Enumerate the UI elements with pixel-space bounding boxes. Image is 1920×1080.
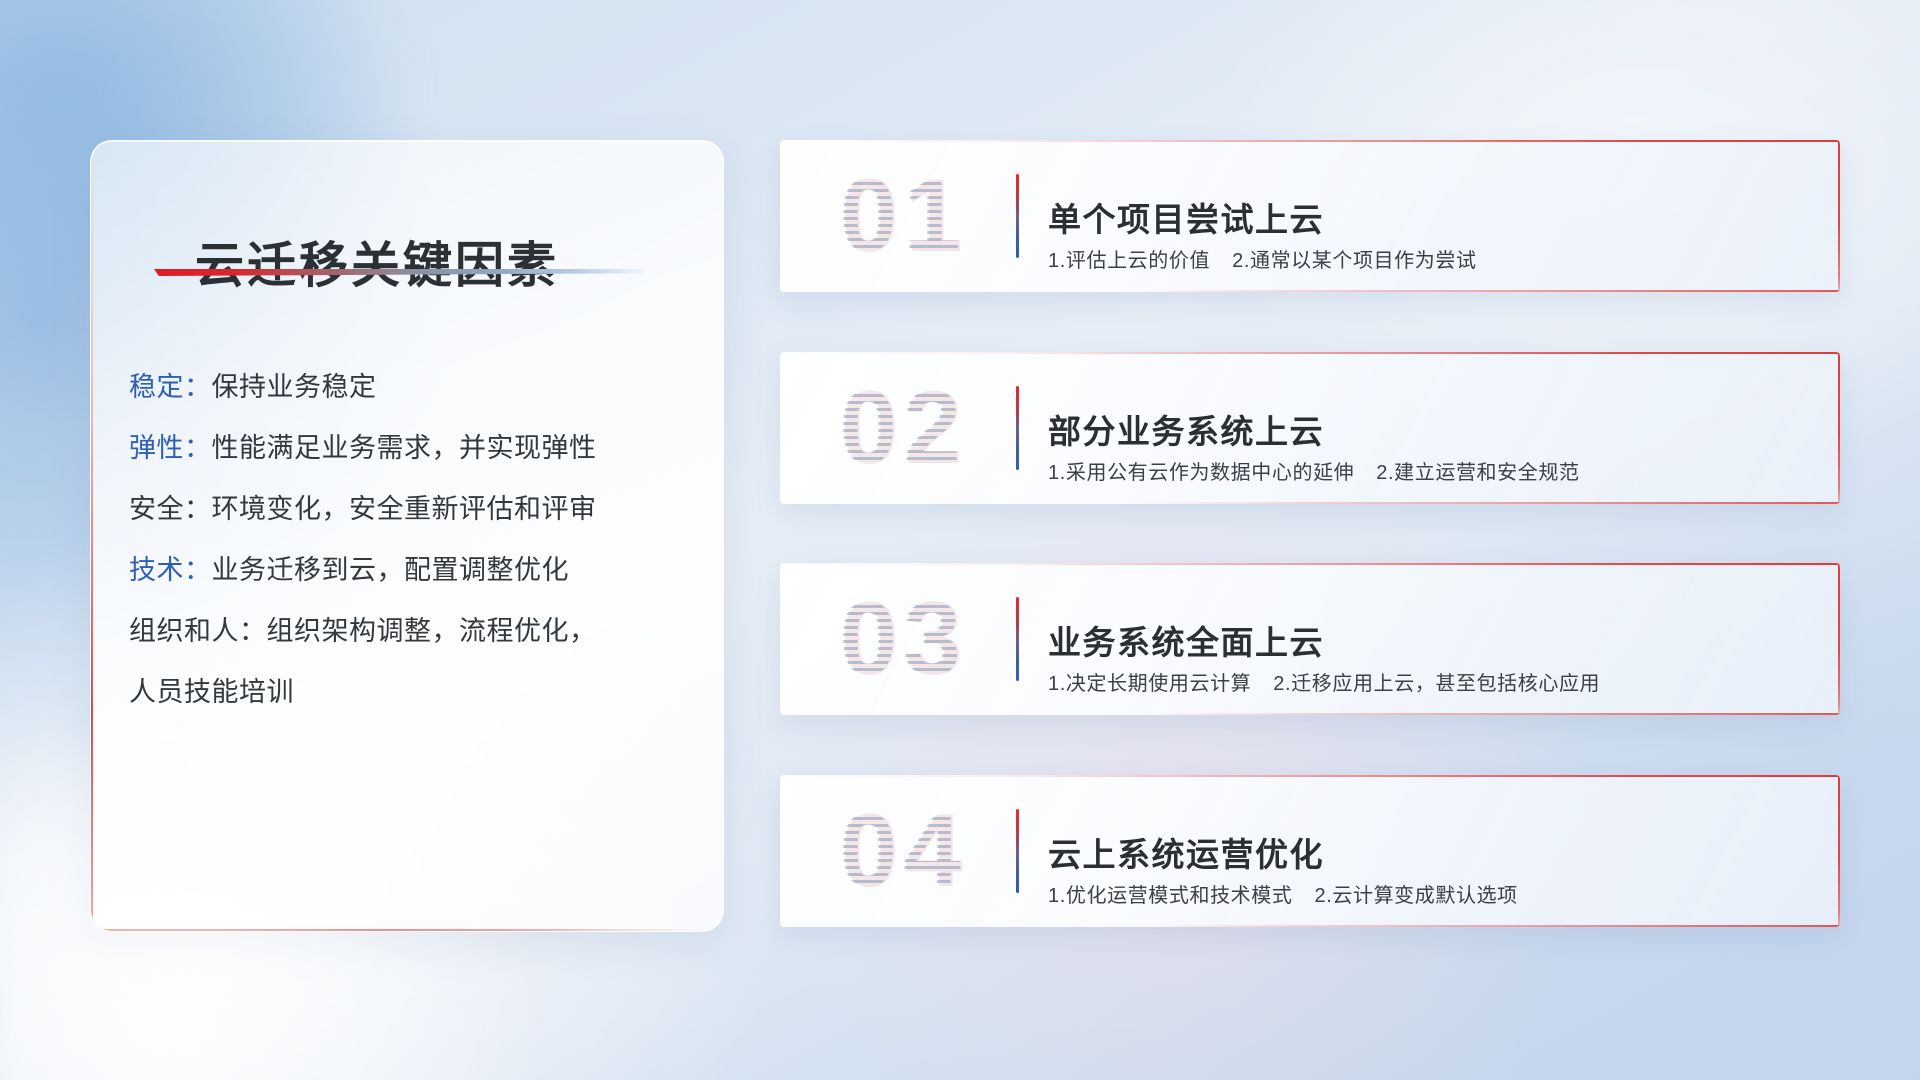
- list-item-key: 稳定：: [129, 372, 212, 402]
- stage-divider-bar: [1016, 386, 1019, 470]
- card-accent-edge-top: [780, 352, 1840, 354]
- stage-card-02[interactable]: 02 02 部分业务系统上云 1.采用公有云作为数据中心的延伸2.建立运营和安全…: [780, 352, 1840, 504]
- panel-accent-edge-bottom: [92, 929, 707, 931]
- stage-number: 04: [808, 789, 998, 913]
- list-item-key: 弹性：: [129, 433, 212, 463]
- stage-card-01[interactable]: 01 01 单个项目尝试上云 1.评估上云的价值2.通常以某个项目作为尝试: [780, 140, 1840, 292]
- stage-number: 02: [808, 366, 998, 490]
- stage-desc-part-2: 2.迁移应用上云，甚至包括核心应用: [1273, 673, 1600, 695]
- stage-title: 业务系统全面上云: [1048, 616, 1324, 664]
- stage-number: 03: [808, 577, 998, 701]
- page-title: 云迁移关键因素: [195, 226, 559, 297]
- stage-desc-part-2: 2.建立运营和安全规范: [1376, 462, 1579, 484]
- card-accent-edge-right: [1838, 352, 1840, 504]
- stage-description: 1.决定长期使用云计算2.迁移应用上云，甚至包括核心应用: [1048, 667, 1600, 696]
- stage-desc-part-1: 1.采用公有云作为数据中心的延伸: [1048, 462, 1354, 484]
- list-item-value: 组织架构调整，流程优化，: [267, 616, 597, 646]
- stage-description: 1.优化运营模式和技术模式2.云计算变成默认选项: [1048, 879, 1518, 908]
- stage-desc-part-2: 2.通常以某个项目作为尝试: [1232, 250, 1476, 272]
- card-accent-edge-top: [780, 775, 1840, 777]
- card-accent-edge-top: [780, 563, 1840, 565]
- stage-description: 1.采用公有云作为数据中心的延伸2.建立运营和安全规范: [1048, 456, 1580, 485]
- list-item: 安全：环境变化，安全重新评估和评审: [129, 479, 695, 540]
- list-item: 人员技能培训: [129, 662, 695, 723]
- stage-title: 单个项目尝试上云: [1048, 193, 1324, 241]
- stage-card-03[interactable]: 03 03 业务系统全面上云 1.决定长期使用云计算2.迁移应用上云，甚至包括核…: [780, 563, 1840, 715]
- stage-title: 云上系统运营优化: [1048, 828, 1324, 876]
- stage-description: 1.评估上云的价值2.通常以某个项目作为尝试: [1048, 244, 1477, 273]
- stage-desc-part-2: 2.云计算变成默认选项: [1314, 885, 1517, 907]
- stage-divider-bar: [1016, 597, 1019, 681]
- list-item-value: 性能满足业务需求，并实现弹性: [212, 433, 597, 463]
- stage-title: 部分业务系统上云: [1048, 405, 1324, 453]
- list-item-value: 业务迁移到云，配置调整优化: [212, 555, 570, 585]
- card-accent-edge-bottom: [1140, 925, 1840, 927]
- stage-card-04[interactable]: 04 04 云上系统运营优化 1.优化运营模式和技术模式2.云计算变成默认选项: [780, 775, 1840, 927]
- stage-divider-bar: [1016, 174, 1019, 258]
- list-item-key: 技术：: [129, 555, 212, 585]
- card-accent-edge-right: [1838, 140, 1840, 292]
- card-accent-edge-bottom: [1140, 502, 1840, 504]
- card-accent-edge-right: [1838, 775, 1840, 927]
- list-item: 弹性：性能满足业务需求，并实现弹性: [129, 418, 695, 479]
- key-factors-panel: 云迁移关键因素 稳定：保持业务稳定 弹性：性能满足业务需求，并实现弹性 安全：环…: [90, 140, 724, 932]
- list-item-key: 组织和人：: [129, 616, 267, 646]
- list-item: 技术：业务迁移到云，配置调整优化: [129, 540, 695, 601]
- stage-divider-bar: [1016, 809, 1019, 893]
- stage-number: 01: [808, 154, 998, 278]
- list-item-value: 保持业务稳定: [212, 372, 377, 402]
- slide-canvas: 云迁移关键因素 稳定：保持业务稳定 弹性：性能满足业务需求，并实现弹性 安全：环…: [0, 0, 1920, 1080]
- list-item-key: 安全：: [129, 494, 212, 524]
- key-factors-list: 稳定：保持业务稳定 弹性：性能满足业务需求，并实现弹性 安全：环境变化，安全重新…: [129, 357, 695, 723]
- card-accent-edge-bottom: [1140, 713, 1840, 715]
- card-accent-edge-top: [780, 140, 1840, 142]
- stage-desc-part-1: 1.评估上云的价值: [1048, 250, 1210, 272]
- card-accent-edge-bottom: [1140, 290, 1840, 292]
- list-item-value: 人员技能培训: [129, 677, 294, 707]
- list-item: 组织和人：组织架构调整，流程优化，: [129, 601, 695, 662]
- list-item: 稳定：保持业务稳定: [129, 357, 695, 418]
- card-accent-edge-right: [1838, 563, 1840, 715]
- stage-desc-part-1: 1.决定长期使用云计算: [1048, 673, 1251, 695]
- stage-desc-part-1: 1.优化运营模式和技术模式: [1048, 885, 1292, 907]
- panel-accent-edge-left: [91, 159, 93, 929]
- list-item-value: 环境变化，安全重新评估和评审: [212, 494, 597, 524]
